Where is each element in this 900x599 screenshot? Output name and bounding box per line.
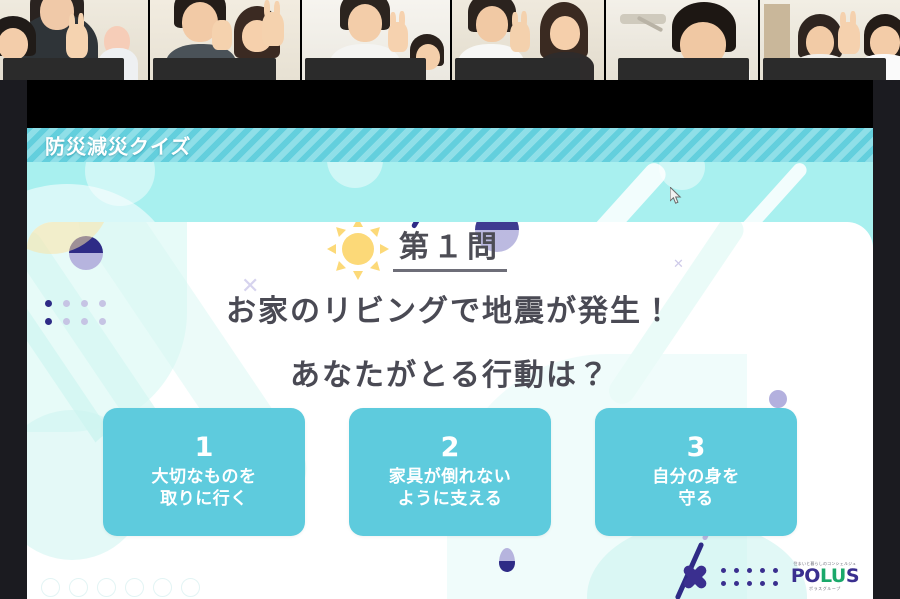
screen-share-view: 防災減災クイズ	[0, 0, 900, 599]
faint-icon-row	[41, 578, 200, 597]
slide-title: 防災減災クイズ	[45, 131, 191, 160]
answer-option-3-label: 自分の身を 守る	[652, 467, 740, 511]
participant-tile[interactable]	[606, 0, 760, 80]
answer-option-2-number: 2	[441, 434, 460, 461]
teardrop-decoration	[499, 548, 515, 572]
polus-letter-s: S	[846, 565, 859, 587]
polus-wordmark: 住まいと暮らしのコンシェルジュ POLUS ポラスグループ	[791, 562, 859, 591]
answer-option-3-line1: 自分の身を	[652, 467, 740, 489]
answer-option-3[interactable]: 3 自分の身を 守る	[595, 408, 797, 536]
answer-option-2-line2: ように支える	[389, 489, 512, 511]
slide-header-band: 防災減災クイズ	[27, 128, 873, 162]
question-line-1: お家のリビングで地震が発生！	[27, 286, 873, 330]
logo-dot-grid	[717, 564, 782, 590]
answer-option-2-label: 家具が倒れない ように支える	[389, 467, 512, 511]
polus-subtitle: ポラスグループ	[809, 587, 841, 591]
answer-option-3-line2: 守る	[652, 489, 740, 511]
letterbox-left	[0, 80, 27, 599]
participant-tile[interactable]	[302, 0, 452, 80]
answer-option-1-label: 大切なものを 取りに行く	[152, 467, 257, 511]
presentation-slide: 防災減災クイズ	[27, 128, 873, 599]
answer-option-1-line2: 取りに行く	[152, 489, 257, 511]
answer-option-1[interactable]: 1 大切なものを 取りに行く	[103, 408, 305, 536]
participant-tile[interactable]	[150, 0, 302, 80]
polus-letter-u: U	[831, 565, 846, 587]
letterbox-right	[873, 80, 900, 599]
polus-logo: 住まいと暮らしのコンシェルジュ POLUS ポラスグループ	[682, 562, 859, 591]
polus-letter-o: O	[804, 565, 820, 587]
answer-options: 1 大切なものを 取りに行く 2 家具が倒れない ように支える 3 自分の身を …	[27, 408, 873, 536]
polus-letter-p: P	[791, 565, 804, 587]
x-flower-icon	[682, 564, 708, 590]
answer-option-3-number: 3	[687, 434, 706, 461]
question-number-text: 第１問	[393, 230, 507, 272]
polus-letter-l: L	[820, 565, 831, 587]
participant-video-strip	[0, 0, 900, 80]
answer-option-2[interactable]: 2 家具が倒れない ように支える	[349, 408, 551, 536]
answer-option-2-line1: 家具が倒れない	[389, 467, 512, 489]
participant-tile[interactable]	[760, 0, 900, 80]
letterbox-top	[0, 80, 900, 128]
participant-tile[interactable]	[452, 0, 606, 80]
participant-tile[interactable]	[0, 0, 150, 80]
answer-option-1-line1: 大切なものを	[152, 467, 257, 489]
question-line-2: あなたがとる行動は？	[27, 350, 873, 394]
answer-option-1-number: 1	[195, 434, 214, 461]
question-number: 第１問	[27, 222, 873, 266]
